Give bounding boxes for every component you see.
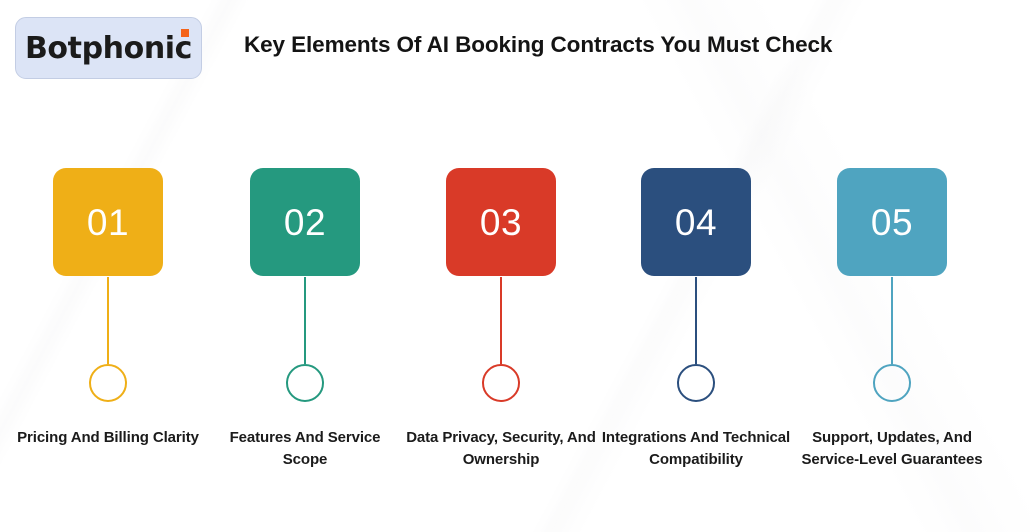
step-ring-marker-01 <box>89 364 127 402</box>
step-label-01: Pricing And Billing Clarity <box>10 427 206 449</box>
step-column-05: 05 Support, Updates, And Service-Level G… <box>794 168 990 471</box>
brand-logo-text: Botphonic <box>25 32 192 64</box>
step-ring-marker-03 <box>482 364 520 402</box>
brand-logo-label: Botphonic <box>25 31 192 66</box>
step-connector-line-04 <box>695 277 698 364</box>
step-connector-line-03 <box>500 277 503 364</box>
steps-row: 01 Pricing And Billing Clarity 02 Featur… <box>0 168 1030 498</box>
step-number-02: 02 <box>284 204 326 241</box>
brand-logo-badge: Botphonic <box>15 17 202 79</box>
step-number-box-03: 03 <box>446 168 556 276</box>
step-number-01: 01 <box>87 204 129 241</box>
step-connector-line-01 <box>107 277 110 364</box>
step-connector-line-05 <box>891 277 894 364</box>
step-column-02: 02 Features And Service Scope <box>207 168 403 471</box>
step-number-04: 04 <box>675 204 717 241</box>
step-ring-marker-04 <box>677 364 715 402</box>
header: Botphonic Key Elements Of AI Booking Con… <box>0 0 1030 96</box>
step-number-05: 05 <box>871 204 913 241</box>
step-label-04: Integrations And Technical Compatibility <box>598 427 794 471</box>
step-number-box-02: 02 <box>250 168 360 276</box>
step-column-01: 01 Pricing And Billing Clarity <box>10 168 206 449</box>
logo-accent-dot-icon <box>181 29 189 37</box>
step-column-03: 03 Data Privacy, Security, And Ownership <box>403 168 599 471</box>
step-label-02: Features And Service Scope <box>207 427 403 471</box>
step-number-box-04: 04 <box>641 168 751 276</box>
page-title: Key Elements Of AI Booking Contracts You… <box>244 32 832 58</box>
step-connector-line-02 <box>304 277 307 364</box>
step-ring-marker-02 <box>286 364 324 402</box>
step-number-box-05: 05 <box>837 168 947 276</box>
infographic-page: Botphonic Key Elements Of AI Booking Con… <box>0 0 1030 532</box>
step-number-03: 03 <box>480 204 522 241</box>
step-number-box-01: 01 <box>53 168 163 276</box>
step-ring-marker-05 <box>873 364 911 402</box>
step-column-04: 04 Integrations And Technical Compatibil… <box>598 168 794 471</box>
step-label-03: Data Privacy, Security, And Ownership <box>403 427 599 471</box>
step-label-05: Support, Updates, And Service-Level Guar… <box>794 427 990 471</box>
